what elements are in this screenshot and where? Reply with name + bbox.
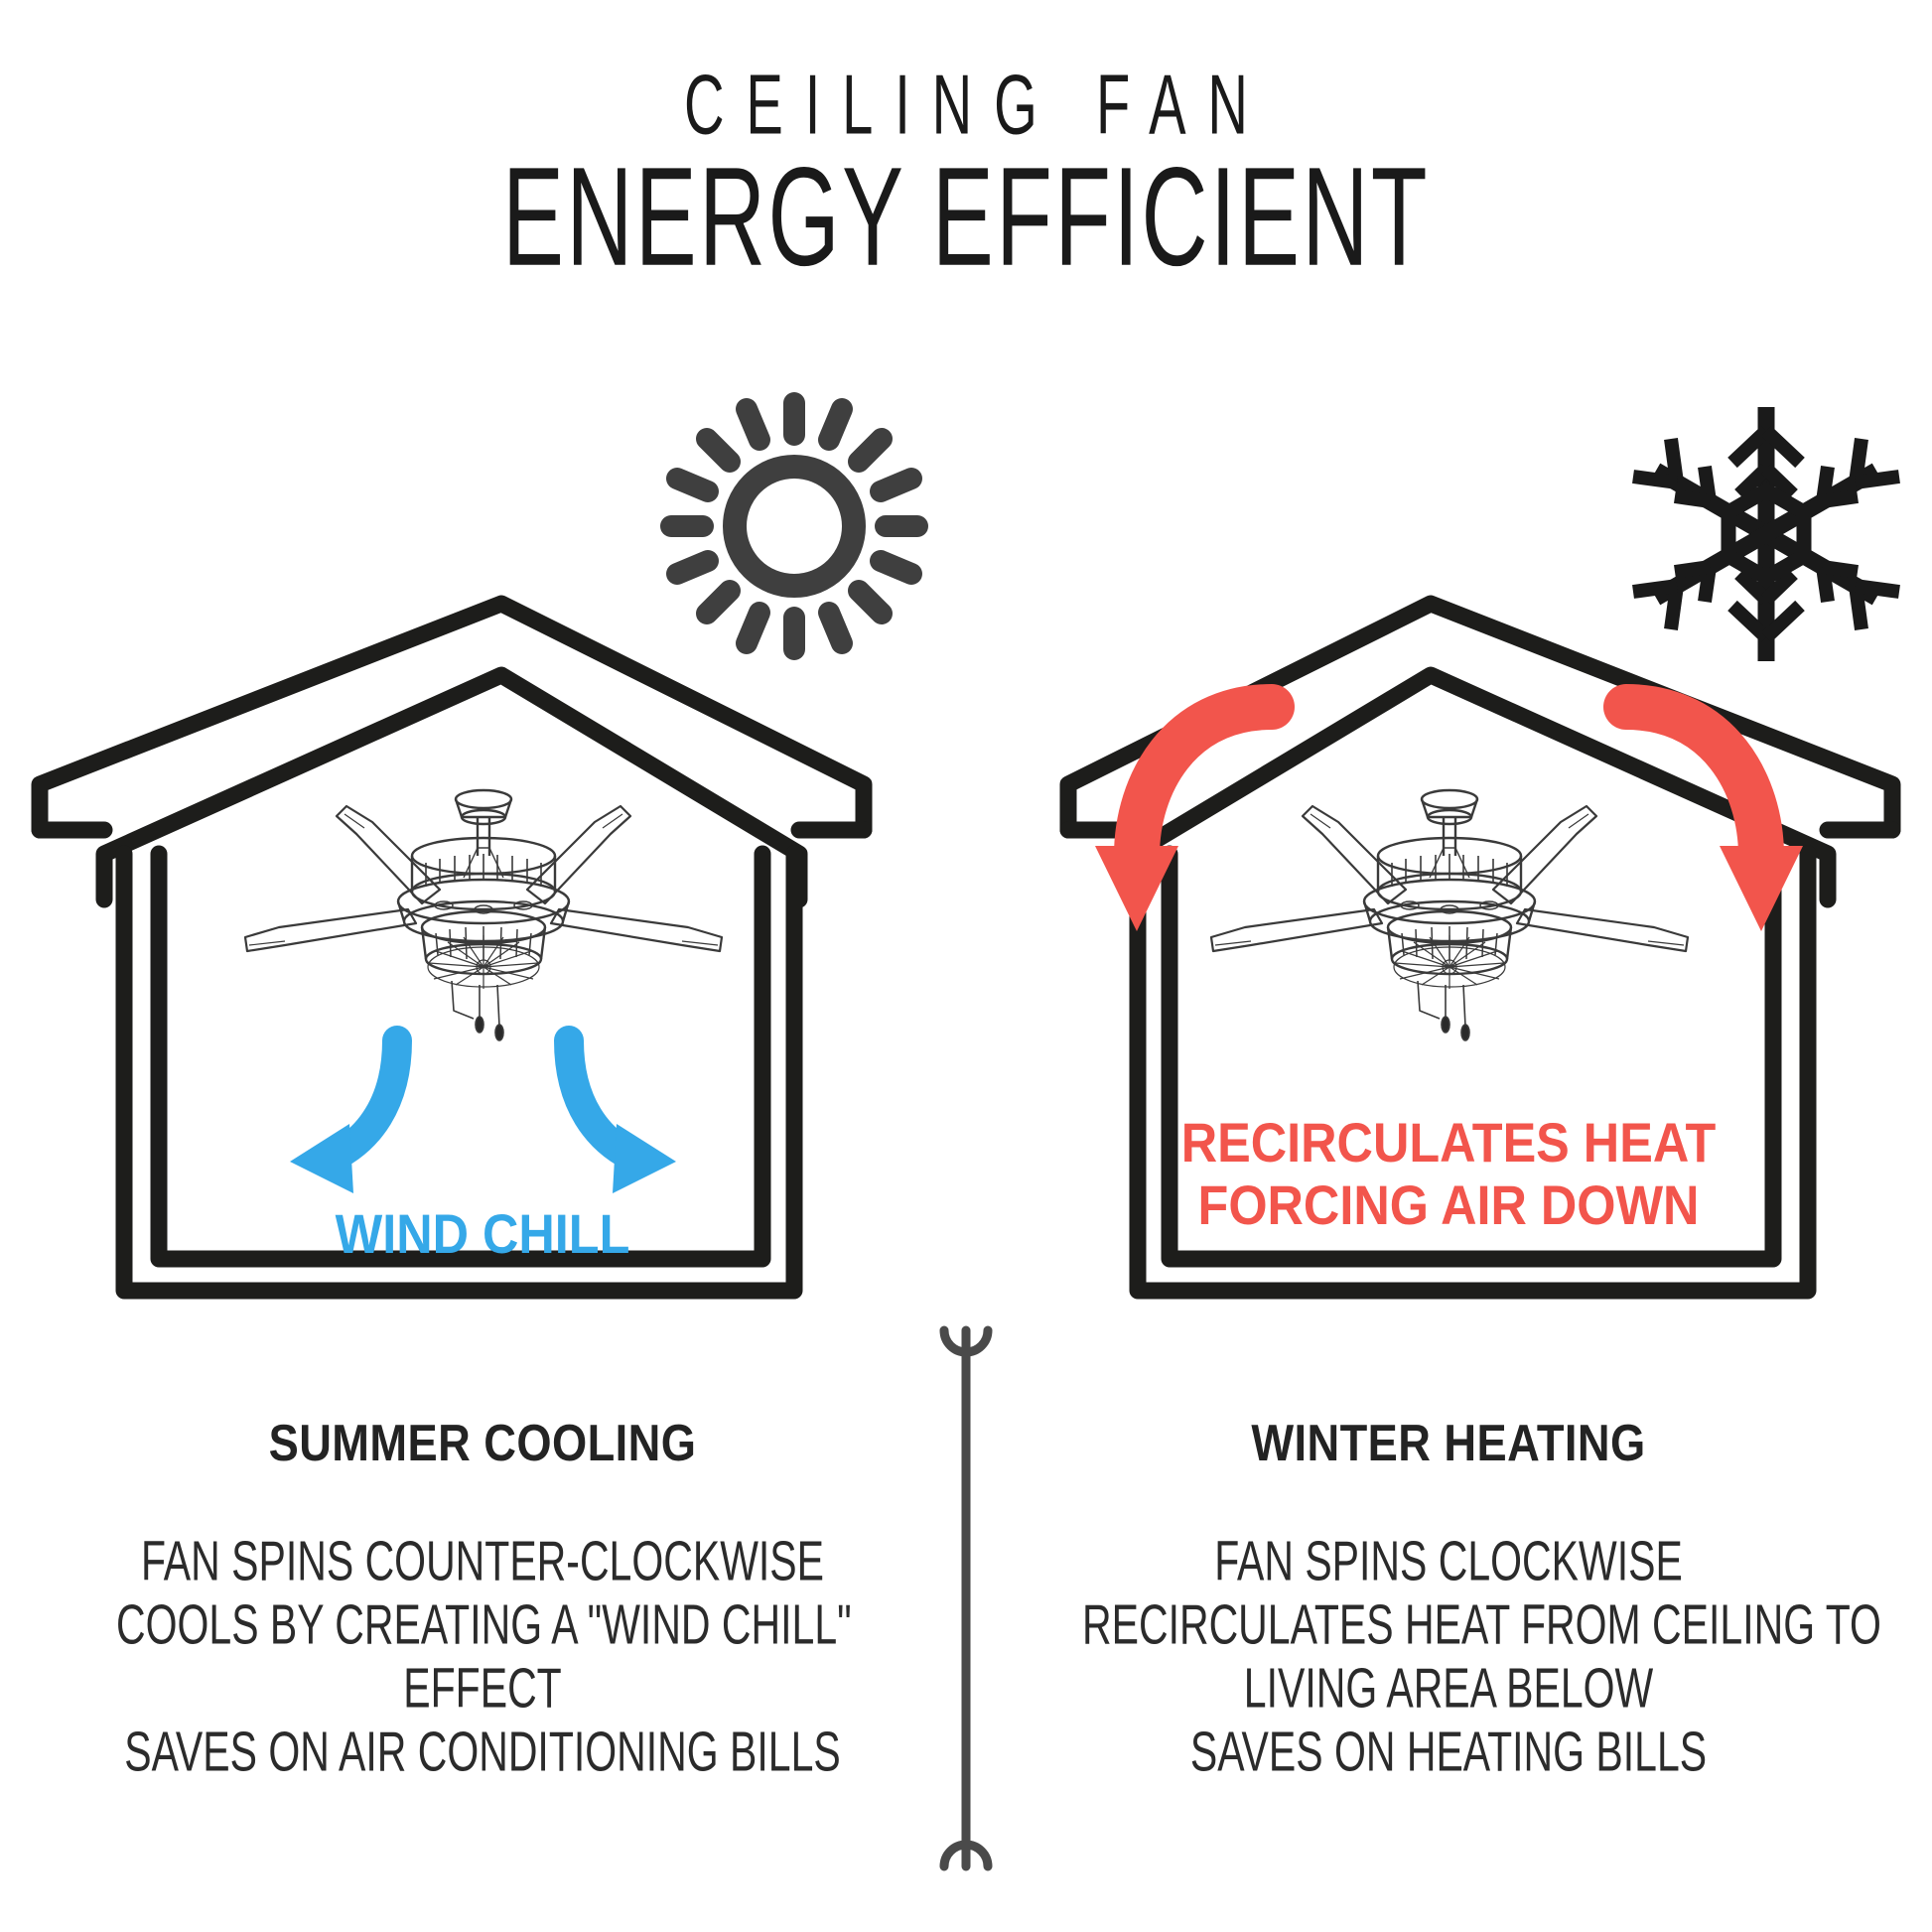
caption-body-summer: FAN SPINS COUNTER-CLOCKWISE COOLS BY CRE… <box>36 1529 929 1783</box>
caption-line: FAN SPINS CLOCKWISE <box>1082 1525 1815 1597</box>
house-label-line: RECIRCULATES HEAT <box>1064 1112 1833 1174</box>
house-label-line: FORCING AIR DOWN <box>1064 1174 1833 1237</box>
caption-line: RECIRCULATES HEAT FROM CEILING TO <box>1082 1588 1815 1661</box>
caption-line: SAVES ON AIR CONDITIONING BILLS <box>116 1716 849 1788</box>
caption-line: SAVES ON HEATING BILLS <box>1082 1716 1815 1788</box>
center-divider <box>926 1320 1006 1876</box>
caption-line: FAN SPINS COUNTER-CLOCKWISE <box>116 1525 849 1597</box>
summer-scene-graphic <box>0 0 966 1410</box>
panel-winter: RECIRCULATES HEAT FORCING AIR DOWN WINTE… <box>966 0 1932 1932</box>
ceiling-fan-winter <box>1211 790 1688 1040</box>
airflow-arrows-blue <box>290 1040 676 1193</box>
caption-line: LIVING AREA BELOW <box>1082 1652 1815 1725</box>
house-label-winter: RECIRCULATES HEAT FORCING AIR DOWN <box>1022 1112 1875 1236</box>
infographic-poster: CEILING FAN ENERGY EFFICIENT <box>0 0 1932 1932</box>
caption-heading-summer: SUMMER COOLING <box>94 1418 872 1469</box>
snowflake-icon <box>1633 407 1899 661</box>
ceiling-fan-summer <box>245 790 722 1040</box>
house-label-summer: WIND CHILL <box>56 1203 909 1266</box>
caption-body-winter: FAN SPINS CLOCKWISE RECIRCULATES HEAT FR… <box>1002 1529 1895 1783</box>
panel-summer: WIND CHILL SUMMER COOLING FAN SPINS COUN… <box>0 0 966 1932</box>
caption-line: EFFECT <box>116 1652 849 1725</box>
caption-line: COOLS BY CREATING A "WIND CHILL" <box>116 1588 849 1661</box>
caption-heading-winter: WINTER HEATING <box>1060 1418 1838 1469</box>
house-label-line: WIND CHILL <box>98 1203 867 1266</box>
sun-icon <box>671 403 917 649</box>
